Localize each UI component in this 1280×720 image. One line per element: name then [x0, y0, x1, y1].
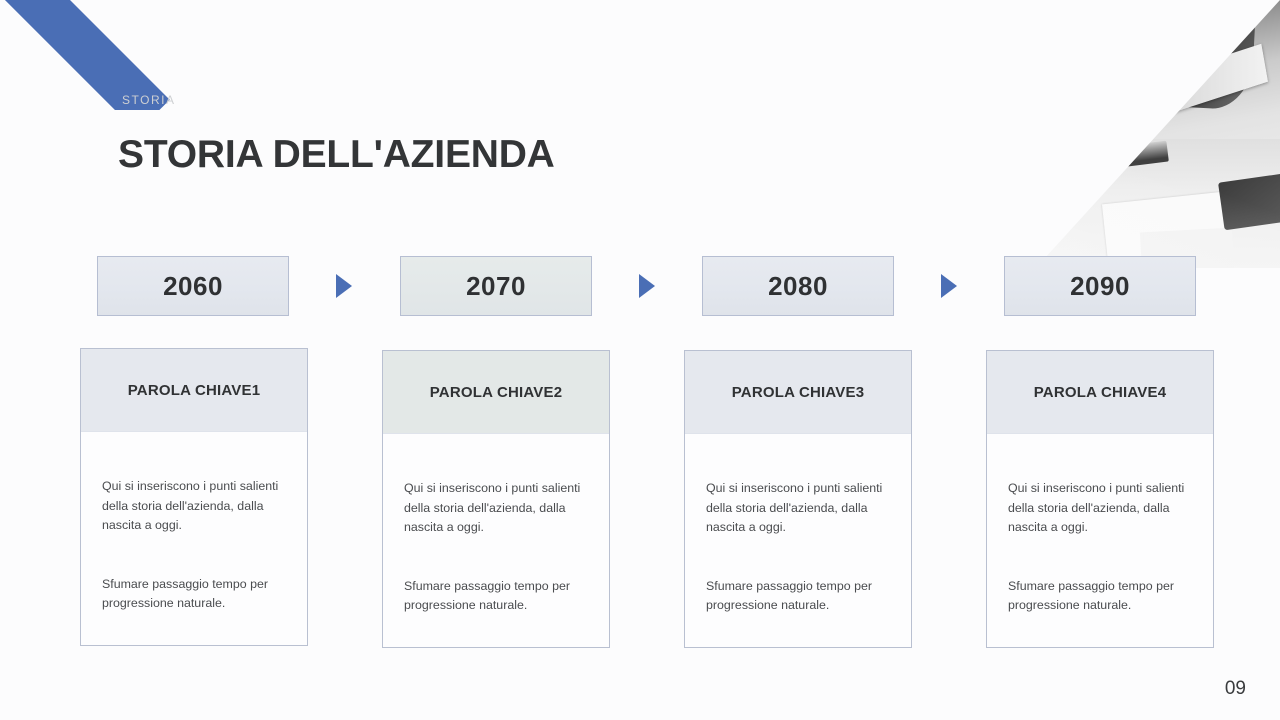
- card-body: Qui si inseriscono i punti salienti dell…: [383, 434, 609, 647]
- card-body: Qui si inseriscono i punti salienti dell…: [685, 434, 911, 647]
- keyword-card-4[interactable]: PAROLA CHIAVE4 Qui si inseriscono i punt…: [986, 350, 1214, 648]
- keyword-card-1[interactable]: PAROLA CHIAVE1 Qui si inseriscono i punt…: [80, 348, 308, 646]
- card-header: PAROLA CHIAVE2: [383, 351, 609, 434]
- card-header: PAROLA CHIAVE3: [685, 351, 911, 434]
- card-paragraph-1: Qui si inseriscono i punti salienti dell…: [404, 479, 588, 538]
- keyword-label: PAROLA CHIAVE3: [732, 384, 865, 401]
- keyword-card-2[interactable]: PAROLA CHIAVE2 Qui si inseriscono i punt…: [382, 350, 610, 648]
- keyword-label: PAROLA CHIAVE1: [128, 382, 261, 399]
- card-paragraph-2: Sfumare passaggio tempo per progressione…: [102, 575, 286, 614]
- card-paragraph-2: Sfumare passaggio tempo per progressione…: [1008, 577, 1192, 616]
- cards-row: PAROLA CHIAVE1 Qui si inseriscono i punt…: [0, 0, 1280, 720]
- card-paragraph-1: Qui si inseriscono i punti salienti dell…: [706, 479, 890, 538]
- card-header: PAROLA CHIAVE4: [987, 351, 1213, 434]
- card-paragraph-2: Sfumare passaggio tempo per progressione…: [706, 577, 890, 616]
- keyword-label: PAROLA CHIAVE4: [1034, 384, 1167, 401]
- slide-canvas: STORIA STORIA DELL'AZIENDA 2060 2070 208…: [0, 0, 1280, 720]
- card-paragraph-2: Sfumare passaggio tempo per progressione…: [404, 577, 588, 616]
- card-header: PAROLA CHIAVE1: [81, 349, 307, 432]
- keyword-card-3[interactable]: PAROLA CHIAVE3 Qui si inseriscono i punt…: [684, 350, 912, 648]
- card-body: Qui si inseriscono i punti salienti dell…: [987, 434, 1213, 647]
- keyword-label: PAROLA CHIAVE2: [430, 384, 563, 401]
- page-number: 09: [1225, 678, 1246, 700]
- card-body: Qui si inseriscono i punti salienti dell…: [81, 432, 307, 645]
- card-paragraph-1: Qui si inseriscono i punti salienti dell…: [1008, 479, 1192, 538]
- card-paragraph-1: Qui si inseriscono i punti salienti dell…: [102, 477, 286, 536]
